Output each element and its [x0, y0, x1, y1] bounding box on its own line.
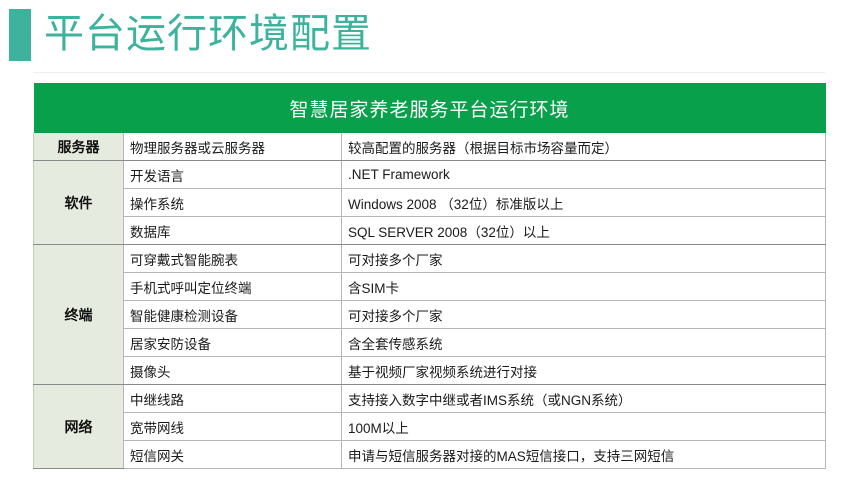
table-body: 服务器物理服务器或云服务器较高配置的服务器（根据目标市场容量而定）软件开发语言.…	[34, 133, 826, 469]
table-header-row: 智慧居家养老服务平台运行环境	[34, 83, 826, 133]
value-cell: 含全套传感系统	[342, 329, 826, 357]
item-cell: 摄像头	[124, 357, 342, 385]
table-row: 短信网关申请与短信服务器对接的MAS短信接口，支持三网短信	[34, 441, 826, 469]
value-cell: 申请与短信服务器对接的MAS短信接口，支持三网短信	[342, 441, 826, 469]
group-label-cell: 终端	[34, 245, 124, 385]
value-cell: 可对接多个厂家	[342, 245, 826, 273]
value-cell: 含SIM卡	[342, 273, 826, 301]
table-row: 智能健康检测设备可对接多个厂家	[34, 301, 826, 329]
table-row: 宽带网线100M以上	[34, 413, 826, 441]
table-row: 软件开发语言.NET Framework	[34, 161, 826, 189]
item-cell: 短信网关	[124, 441, 342, 469]
item-cell: 数据库	[124, 217, 342, 245]
table-row: 摄像头基于视频厂家视频系统进行对接	[34, 357, 826, 385]
group-label-cell: 服务器	[34, 133, 124, 161]
table-row: 服务器物理服务器或云服务器较高配置的服务器（根据目标市场容量而定）	[34, 133, 826, 161]
group-label-cell: 网络	[34, 385, 124, 469]
item-cell: 可穿戴式智能腕表	[124, 245, 342, 273]
slide-canvas: 平台运行环境配置 智慧居家养老服务平台运行环境 服务器物理服务器或云服务器较高配…	[0, 0, 850, 503]
table-row: 网络中继线路支持接入数字中继或者IMS系统（或NGN系统）	[34, 385, 826, 413]
table-row: 操作系统Windows 2008 （32位）标准版以上	[34, 189, 826, 217]
item-cell: 手机式呼叫定位终端	[124, 273, 342, 301]
value-cell: 可对接多个厂家	[342, 301, 826, 329]
item-cell: 居家安防设备	[124, 329, 342, 357]
page-title: 平台运行环境配置	[44, 6, 372, 62]
item-cell: 操作系统	[124, 189, 342, 217]
slide-title-block: 平台运行环境配置	[0, 0, 850, 72]
value-cell: 支持接入数字中继或者IMS系统（或NGN系统）	[342, 385, 826, 413]
value-cell: .NET Framework	[342, 161, 826, 189]
item-cell: 宽带网线	[124, 413, 342, 441]
title-accent-bar	[9, 9, 31, 61]
value-cell: SQL SERVER 2008（32位）以上	[342, 217, 826, 245]
table-row: 终端可穿戴式智能腕表可对接多个厂家	[34, 245, 826, 273]
table-row: 数据库SQL SERVER 2008（32位）以上	[34, 217, 826, 245]
value-cell: 较高配置的服务器（根据目标市场容量而定）	[342, 133, 826, 161]
group-label-cell: 软件	[34, 161, 124, 245]
item-cell: 中继线路	[124, 385, 342, 413]
item-cell: 开发语言	[124, 161, 342, 189]
item-cell: 智能健康检测设备	[124, 301, 342, 329]
title-divider	[33, 72, 825, 73]
environment-table-container: 智慧居家养老服务平台运行环境 服务器物理服务器或云服务器较高配置的服务器（根据目…	[33, 83, 825, 469]
table-row: 手机式呼叫定位终端含SIM卡	[34, 273, 826, 301]
value-cell: 基于视频厂家视频系统进行对接	[342, 357, 826, 385]
table-head: 智慧居家养老服务平台运行环境	[34, 83, 826, 133]
environment-table: 智慧居家养老服务平台运行环境 服务器物理服务器或云服务器较高配置的服务器（根据目…	[33, 83, 826, 469]
value-cell: Windows 2008 （32位）标准版以上	[342, 189, 826, 217]
table-row: 居家安防设备含全套传感系统	[34, 329, 826, 357]
item-cell: 物理服务器或云服务器	[124, 133, 342, 161]
table-title-cell: 智慧居家养老服务平台运行环境	[34, 83, 826, 133]
value-cell: 100M以上	[342, 413, 826, 441]
